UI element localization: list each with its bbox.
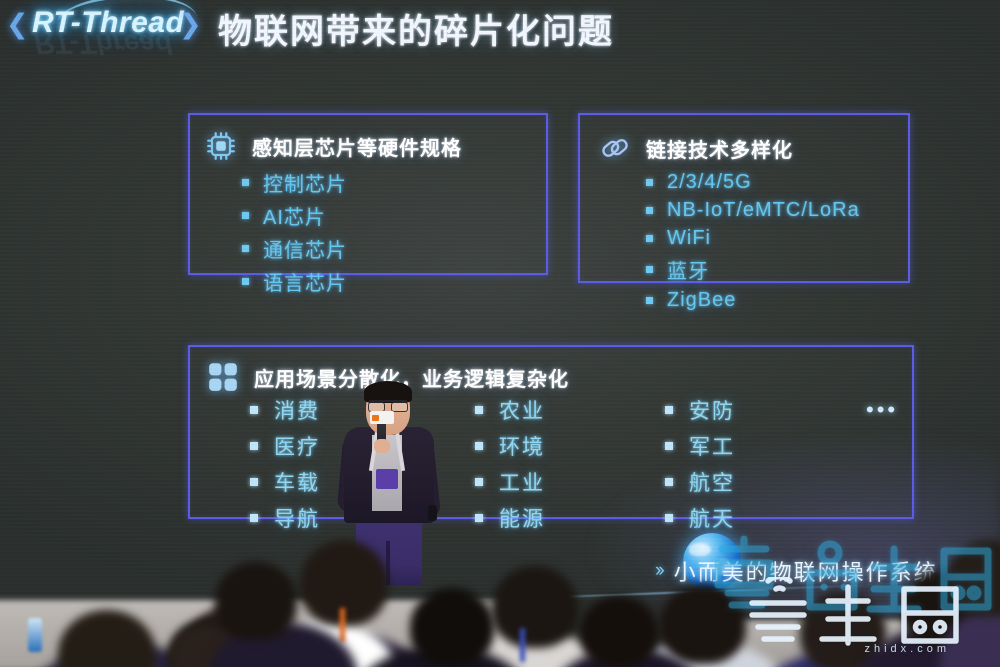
list-item: 军工 (665, 431, 735, 461)
list-item-label: 安防 (689, 395, 735, 425)
list-item: 安防 (665, 395, 735, 425)
bullet-square-icon (475, 478, 483, 486)
slide-header: ❮ RT-Thread RT-Thread ❯ 物联网带来的碎片化问题 (0, 0, 1000, 58)
bullet-square-icon (665, 442, 673, 450)
content-box-hardware: 感知层芯片等硬件规格 控制芯片 AI芯片 通信芯片 语言芯片 (188, 113, 548, 275)
brand-reflection: RT-Thread (34, 28, 172, 60)
water-bottle (28, 618, 42, 652)
chevron-right-icon: ❯ (179, 11, 202, 38)
list-item-label: ZigBee (667, 289, 736, 312)
bullet-square-icon (242, 245, 249, 252)
list-item-label: 医疗 (274, 431, 320, 461)
list-item-label: 航空 (689, 467, 735, 497)
list-item-label: AI芯片 (263, 201, 326, 230)
bullet-square-icon (475, 442, 483, 450)
bullet-square-icon (250, 478, 258, 486)
apps-ellipsis: ••• (866, 397, 898, 423)
list-item: 语言芯片 (242, 267, 347, 296)
audience-person (492, 566, 578, 648)
bullet-square-icon (250, 406, 258, 414)
list-item: 医疗 (250, 431, 320, 461)
list-item: NB-IoT/eMTC/LoRa (646, 199, 860, 222)
audience-person (580, 596, 658, 667)
bullet-list-connectivity: 2/3/4/5G NB-IoT/eMTC/LoRa WiFi 蓝牙 ZigBee (646, 171, 860, 317)
bullet-square-icon (250, 442, 258, 450)
list-item: 环境 (475, 431, 545, 461)
bullet-square-icon (646, 266, 653, 273)
four-squares-icon (206, 360, 240, 394)
list-item-label: 环境 (499, 431, 545, 461)
bullet-square-icon (646, 179, 653, 186)
bullet-square-icon (665, 478, 673, 486)
box-heading-text: 感知层芯片等硬件规格 (252, 132, 462, 161)
box-heading-text: 链接技术多样化 (646, 134, 793, 163)
content-box-connectivity: 链接技术多样化 2/3/4/5G NB-IoT/eMTC/LoRa WiFi 蓝… (578, 113, 910, 283)
zhidx-logo-icon (738, 577, 968, 651)
rt-thread-logo: ❮ RT-Thread RT-Thread ❯ (4, 2, 214, 52)
list-item: 航空 (665, 467, 735, 497)
list-item: AI芯片 (242, 201, 347, 230)
list-item: 通信芯片 (242, 234, 347, 263)
list-item-label: 2/3/4/5G (667, 171, 752, 194)
list-item-label: WiFi (667, 227, 711, 250)
chain-link-icon (598, 131, 632, 165)
list-item-label: 工业 (499, 467, 545, 497)
list-item-label: 消费 (274, 395, 320, 425)
list-item: WiFi (646, 227, 860, 250)
list-item-label: 蓝牙 (667, 255, 709, 284)
list-item: 车载 (250, 467, 320, 497)
bullet-square-icon (665, 406, 673, 414)
list-item-label: 通信芯片 (263, 234, 347, 263)
bullet-square-icon (646, 297, 653, 304)
list-item: 农业 (475, 395, 545, 425)
list-item: 控制芯片 (242, 168, 347, 197)
list-item: 消费 (250, 395, 320, 425)
content-box-applications: 应用场景分散化，业务逻辑复杂化 消费 医疗 车载 导航 农业 环境 工业 能源 … (188, 345, 914, 519)
bullet-square-icon (646, 235, 653, 242)
bullet-square-icon (475, 406, 483, 414)
speaker-badge (376, 469, 398, 489)
bullet-square-icon (646, 207, 653, 214)
list-item-label: 军工 (689, 431, 735, 461)
chevron-left-icon: ❮ (6, 11, 29, 38)
cpu-chip-icon (204, 129, 238, 163)
audience-person (410, 588, 494, 666)
list-item-label: 控制芯片 (263, 168, 347, 197)
speaker-hand (374, 439, 390, 453)
bullet-square-icon (242, 212, 249, 219)
list-item: 蓝牙 (646, 255, 860, 284)
audience-lanyard (520, 628, 525, 662)
list-item: 2/3/4/5G (646, 171, 860, 194)
bullet-list-hardware: 控制芯片 AI芯片 通信芯片 语言芯片 (242, 168, 347, 300)
box-header-hardware: 感知层芯片等硬件规格 (204, 129, 462, 163)
bullet-square-icon (242, 179, 249, 186)
speaker-glasses (368, 400, 408, 409)
list-item-label: 语言芯片 (263, 267, 347, 296)
watermark-url: zhidx.com (864, 643, 950, 655)
audience-lanyard (340, 608, 345, 642)
box-header-connectivity: 链接技术多样化 (598, 131, 793, 165)
watermark: zhidx.com (694, 539, 994, 659)
list-item-label: 农业 (499, 395, 545, 425)
audience-person (215, 562, 297, 640)
list-item: 工业 (475, 467, 545, 497)
microphone-flag (370, 411, 394, 424)
list-item-label: 车载 (274, 467, 320, 497)
slide-title: 物联网带来的碎片化问题 (218, 4, 614, 53)
list-item: ZigBee (646, 289, 860, 312)
presentation-photo: ❮ RT-Thread RT-Thread ❯ 物联网带来的碎片化问题 感知层芯 (0, 0, 1000, 667)
bullet-square-icon (242, 278, 249, 285)
list-item-label: NB-IoT/eMTC/LoRa (667, 199, 860, 222)
